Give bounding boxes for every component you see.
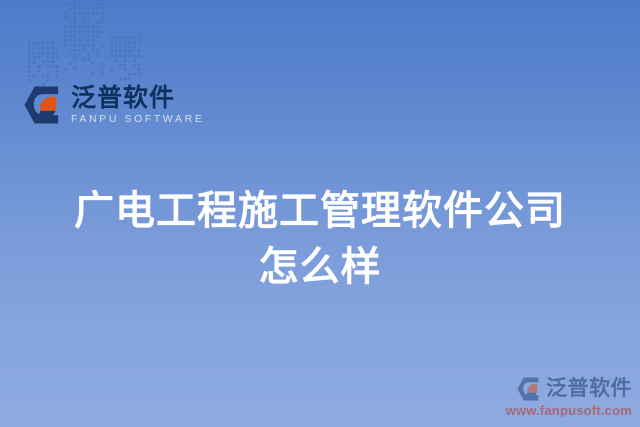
pixel-tower-pattern-decoration — [28, 0, 148, 86]
pixel-tower-icon — [28, 0, 148, 86]
page-title: 广电工程施工管理软件公司 怎么样 — [0, 183, 640, 295]
fanpu-hexagon-logo-icon — [516, 376, 542, 402]
brand-logo-wordmark: 泛普软件 FANPU SOFTWARE — [71, 85, 204, 126]
brand-logo: 泛普软件 FANPU SOFTWARE — [22, 84, 204, 126]
page-title-line-2: 怎么样 — [0, 239, 640, 295]
promo-banner: 泛普软件 FANPU SOFTWARE 广电工程施工管理软件公司 怎么样 泛普软… — [0, 0, 640, 427]
watermark-brand-row: 泛普软件 — [492, 376, 632, 402]
watermark-brand-name: 泛普软件 — [546, 378, 632, 400]
brand-name-cn: 泛普软件 — [71, 85, 204, 111]
watermark: 泛普软件 www.fanpusoft.com — [492, 376, 632, 419]
page-title-line-1: 广电工程施工管理软件公司 — [0, 183, 640, 239]
fanpu-hexagon-logo-icon — [22, 84, 64, 126]
watermark-url: www.fanpusoft.com — [492, 403, 632, 419]
brand-name-en: FANPU SOFTWARE — [71, 112, 204, 126]
